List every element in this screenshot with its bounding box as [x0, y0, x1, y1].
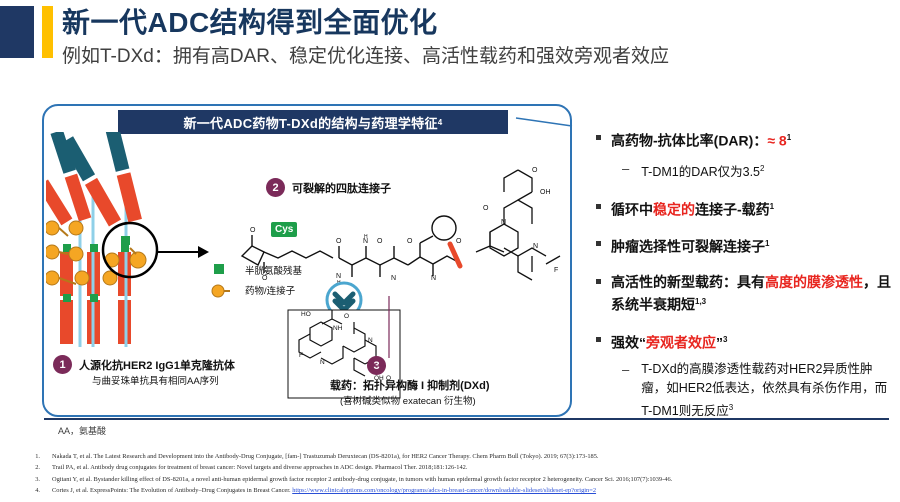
reference-superscript: 3 [723, 335, 727, 344]
svg-text:F: F [554, 267, 558, 274]
svg-text:N: N [368, 337, 373, 344]
callout-bubble-1: 1 [53, 355, 72, 374]
feature-bullet-3: 肿瘤选择性可裂解连接子1 [596, 234, 896, 257]
header-accent-block-gold [42, 6, 53, 58]
reference-item-4: 4.Cortes J, et al. ExpressPoints: The Ev… [14, 486, 892, 495]
reference-text: Nakada T, et al. The Latest Research and… [52, 452, 892, 461]
svg-text:O: O [377, 238, 383, 245]
feature-bullet-1: 高药物-抗体比率(DAR)：≈ 81 [596, 128, 896, 151]
callout-2-title: 可裂解的四肽连接子 [292, 180, 391, 196]
svg-text:O: O [483, 205, 489, 212]
feature-bullet-2: 循环中稳定的连接子-载药1 [596, 197, 896, 220]
reference-item-1: 1.Nakada T, et al. The Latest Research a… [14, 452, 892, 461]
feature-bullet-text: 高药物-抗体比率(DAR)：≈ 81 [611, 128, 791, 151]
bullet-square-icon [596, 204, 601, 209]
page-title: 新一代ADC结构得到全面优化 [62, 6, 882, 40]
reference-number: 2. [14, 463, 52, 472]
subbullet-dash-icon: – [622, 159, 629, 182]
reference-number: 3. [14, 475, 52, 484]
reference-item-3: 3.Ogitani Y, et al. Bystander killing ef… [14, 475, 892, 484]
dxd-payload-structure-top [476, 170, 560, 280]
reference-superscript: 1 [787, 133, 791, 142]
svg-text:NH: NH [333, 325, 343, 332]
feature-bullet-text: 循环中稳定的连接子-载药1 [611, 197, 774, 220]
svg-text:N: N [320, 359, 325, 366]
page-subtitle: 例如T-DXd：拥有高DAR、稳定优化连接、高活性载药和强效旁观者效应 [62, 44, 892, 70]
figure-footnote: AA，氨基酸 [58, 424, 106, 437]
feature-subbullet-text: T-DM1的DAR仅为3.52 [641, 159, 764, 182]
feature-bullet-text: 肿瘤选择性可裂解连接子1 [611, 234, 769, 257]
svg-text:HO: HO [301, 311, 311, 318]
bullet-square-icon [596, 135, 601, 140]
svg-text:O: O [456, 238, 462, 245]
callout-bubble-3: 3 [367, 356, 386, 375]
figure-title-superscript: 4 [438, 118, 443, 127]
subbullet-dash-icon: – [622, 360, 629, 421]
callout-bubble-2: 2 [266, 178, 285, 197]
feature-bullet-4: 高活性的新型载药：具有高度的膜渗透性，且系统半衰期短1,3 [596, 272, 896, 315]
svg-text:N: N [501, 219, 506, 226]
reference-superscript: 1 [765, 239, 769, 248]
feature-subbullet-5-1: –T-DXd的高膜渗透性载药对HER2异质性肿瘤，如HER2低表达，依然具有杀伤… [622, 360, 896, 421]
feature-subbullet-1-1: –T-DM1的DAR仅为3.52 [622, 159, 896, 182]
references-list: 1.Nakada T, et al. The Latest Research a… [14, 452, 892, 498]
figure-title-text: 新一代ADC药物T-DXd的结构与药理学特征 [183, 113, 437, 132]
svg-text:H: H [364, 234, 368, 240]
reference-item-2: 2.Trail PA, et al. Antibody drug conjuga… [14, 463, 892, 472]
legend-swatch-drug-linker [211, 284, 231, 298]
svg-text:N: N [336, 273, 341, 280]
feature-bullet-5: 强效“旁观者效应”3 [596, 330, 896, 353]
reference-text: Trail PA, et al. Antibody drug conjugate… [52, 463, 892, 472]
reference-text: Ogitani Y, et al. Bystander killing effe… [52, 475, 892, 484]
svg-text:O: O [250, 227, 256, 234]
reference-link[interactable]: https://www.clinicaloptions.com/oncology… [292, 487, 596, 494]
key-features-list: 高药物-抗体比率(DAR)：≈ 81–T-DM1的DAR仅为3.52循环中稳定的… [596, 128, 896, 437]
header-accent-block-blue [0, 6, 34, 58]
callout-1-subtitle: 与曲妥珠单抗具有相同AA序列 [92, 373, 219, 387]
svg-text:O: O [336, 238, 342, 245]
bullet-square-icon [596, 279, 601, 284]
feature-bullet-text: 强效“旁观者效应”3 [611, 330, 727, 353]
bullet-square-icon [596, 337, 601, 342]
reference-superscript: 1 [770, 202, 774, 211]
svg-text:N: N [533, 243, 538, 250]
feature-subbullet-text: T-DXd的高膜渗透性载药对HER2异质性肿瘤，如HER2低表达，依然具有杀伤作… [641, 360, 896, 421]
reference-number: 1. [14, 452, 52, 461]
legend-label-drug-linker: 药物/连接子 [245, 283, 295, 297]
cleavage-site-marker [450, 244, 460, 266]
bullet-square-icon [596, 241, 601, 246]
callout-1-title: 人源化抗HER2 IgG1单克隆抗体 [79, 357, 235, 373]
antibody-graphic [46, 132, 209, 347]
svg-text:O: O [344, 313, 349, 320]
reference-text: Cortes J, et al. ExpressPoints: The Evol… [52, 486, 892, 495]
legend-swatch-cysteine [214, 264, 224, 274]
feature-bullet-text: 高活性的新型载药：具有高度的膜渗透性，且系统半衰期短1,3 [611, 272, 896, 315]
svg-text:O: O [532, 167, 538, 174]
legend-label-cysteine: 半胱氨酸残基 [245, 263, 302, 277]
reference-number: 4. [14, 486, 52, 495]
svg-text:O: O [407, 238, 413, 245]
svg-text:N: N [391, 275, 396, 282]
callout-3-title: 载药：拓扑异构酶 I 抑制剂(DXd) [330, 377, 490, 393]
svg-text:OH: OH [540, 189, 551, 196]
svg-text:N: N [431, 275, 436, 282]
reference-superscript: 1,3 [695, 297, 706, 306]
figure-title-banner: 新一代ADC药物T-DXd的结构与药理学特征4 [118, 110, 508, 134]
callout-3-subtitle: (喜树碱类似物 exatecan 衍生物) [340, 393, 476, 407]
svg-text:F: F [299, 352, 303, 359]
cys-residue-tag: Cys [271, 222, 297, 237]
